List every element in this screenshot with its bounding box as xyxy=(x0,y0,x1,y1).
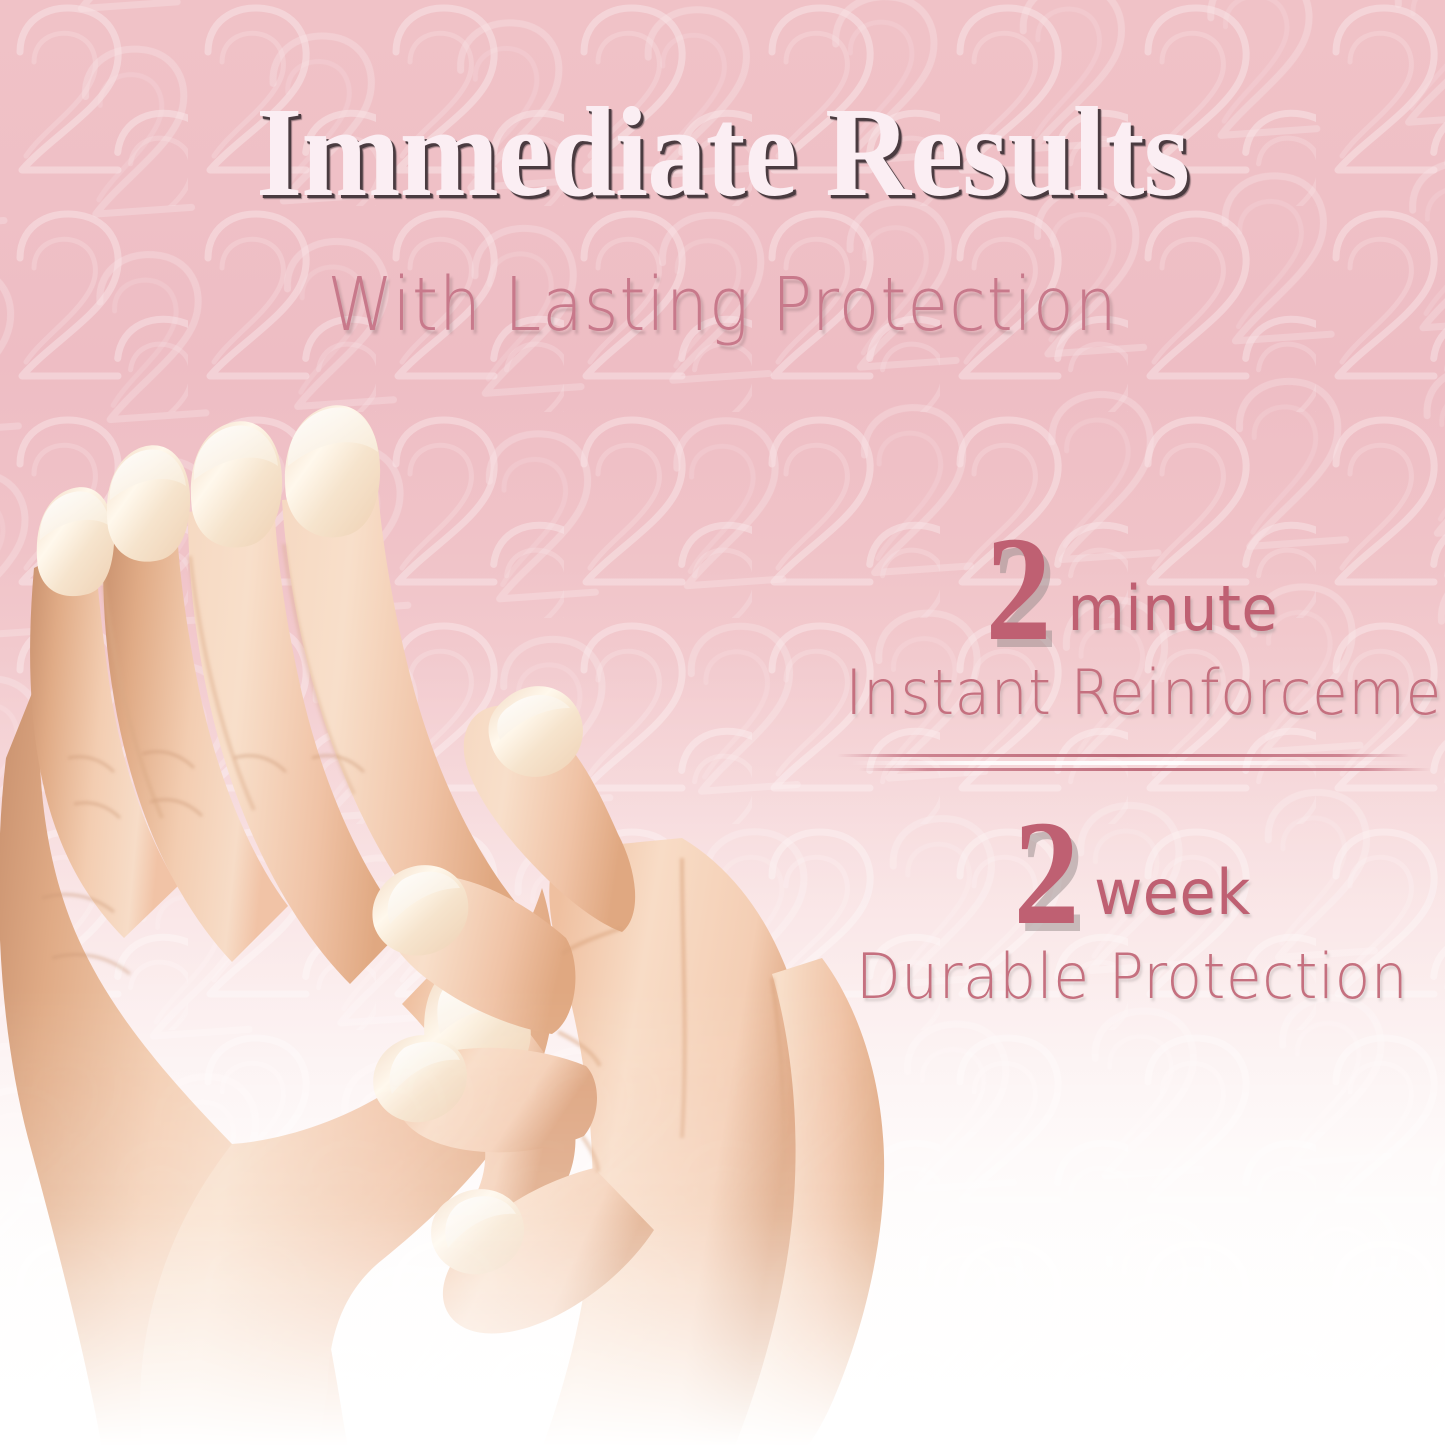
stat-divider xyxy=(827,742,1437,788)
fingernail xyxy=(37,405,531,1090)
left-hand xyxy=(0,405,575,1445)
sub-headline: With Lasting Protection xyxy=(72,268,1373,342)
hands-photo xyxy=(0,238,892,1445)
right-hand xyxy=(372,686,884,1445)
divider-rule-top xyxy=(837,754,1409,757)
divider-rule-bottom xyxy=(859,768,1431,771)
divider-highlight xyxy=(851,761,1419,765)
stats-panel: 2 minute Instant Reinforcement 2 week Du… xyxy=(827,520,1437,1008)
headline: Immediate Results xyxy=(51,88,1395,216)
stat-headline-row: 2 minute xyxy=(827,520,1437,658)
fingernail xyxy=(372,686,583,1274)
stat-number: 2 xyxy=(1014,804,1080,942)
stat-unit: minute xyxy=(1067,578,1278,640)
product-feature-banner: Immediate Results With Lasting Protectio… xyxy=(0,0,1445,1445)
stat-caption: Durable Protection xyxy=(845,946,1418,1008)
stat-number: 2 xyxy=(985,520,1051,658)
stat-block-durable-protection: 2 week Durable Protection xyxy=(827,804,1437,1008)
stat-unit: week xyxy=(1094,862,1251,924)
stat-caption: Instant Reinforcement xyxy=(845,662,1418,724)
stat-headline-row: 2 week xyxy=(827,804,1437,942)
stat-block-instant-reinforcement: 2 minute Instant Reinforcement xyxy=(827,520,1437,724)
